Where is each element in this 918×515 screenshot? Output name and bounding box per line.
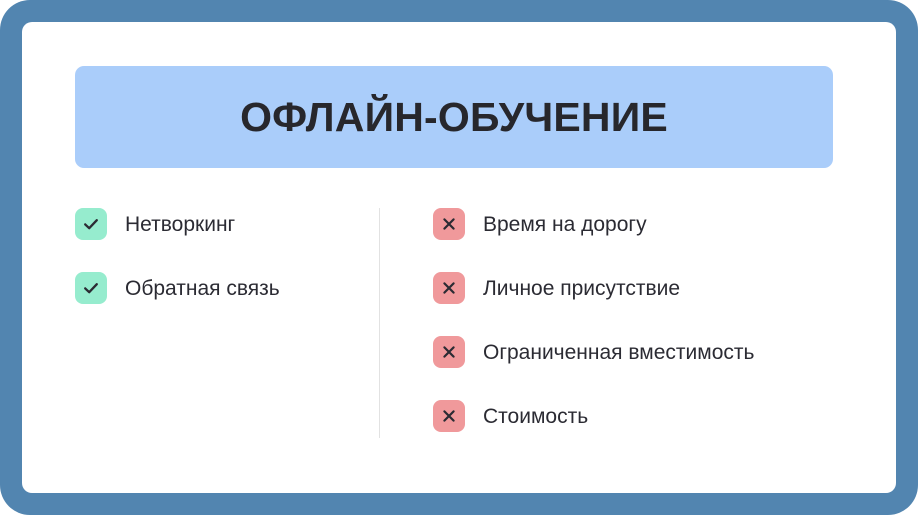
list-item: Обратная связь [75,272,375,304]
list-item: Время на дорогу [433,208,863,240]
content-card: ОФЛАЙН-ОБУЧЕНИЕ Нетворкинг [22,22,896,493]
list-item: Личное присутствие [433,272,863,304]
comparison-columns: Нетворкинг Обратная связь [22,190,896,493]
close-icon [433,208,465,240]
list-item-label: Стоимость [483,406,588,427]
list-item-label: Время на дорогу [483,214,647,235]
list-item-label: Ограниченная вместимость [483,342,754,363]
cons-column: Время на дорогу Личное присутствие [433,208,863,432]
check-icon [75,208,107,240]
outer-frame: ОФЛАЙН-ОБУЧЕНИЕ Нетворкинг [0,0,918,515]
list-item: Нетворкинг [75,208,375,240]
close-icon [433,272,465,304]
check-icon [75,272,107,304]
list-item: Ограниченная вместимость [433,336,863,368]
list-item-label: Обратная связь [125,278,280,299]
list-item: Стоимость [433,400,863,432]
title-banner: ОФЛАЙН-ОБУЧЕНИЕ [75,66,833,168]
list-item-label: Личное присутствие [483,278,680,299]
list-item-label: Нетворкинг [125,214,235,235]
page-title: ОФЛАЙН-ОБУЧЕНИЕ [240,97,668,138]
close-icon [433,336,465,368]
pros-column: Нетворкинг Обратная связь [75,208,375,304]
column-divider [379,208,380,438]
close-icon [433,400,465,432]
